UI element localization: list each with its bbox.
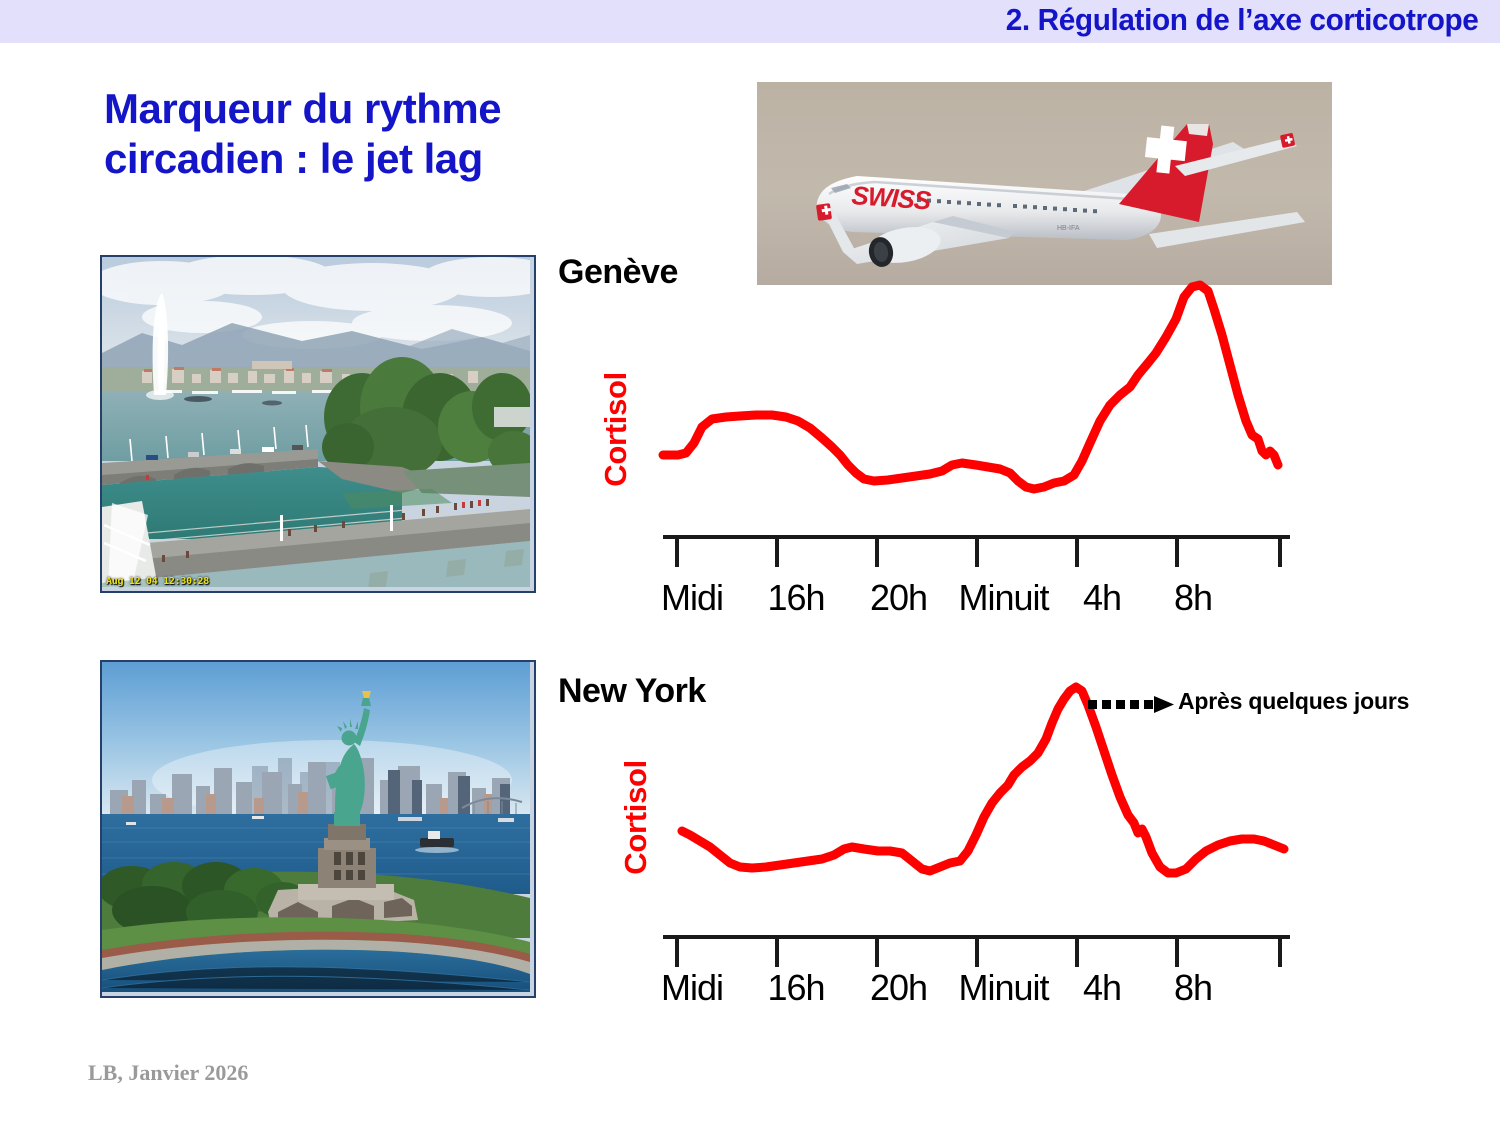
newyork-tick-label-4: 4h [1056,967,1148,1009]
geneva-tick-label-3: Minuit [951,577,1056,619]
header-title: 2. Régulation de l’axe corticotrope [1005,2,1478,38]
geneva-cortisol-chart [590,275,1300,620]
newyork-tick-label-1: 16h [746,967,846,1009]
svg-text:HB-IFA: HB-IFA [1057,225,1080,232]
page-title-line-1: Marqueur du rythme [104,84,624,134]
newyork-cortisol-chart [590,665,1300,1010]
dotted-arrow-right-icon [1088,694,1176,721]
newyork-tick-label-2: 20h [846,967,951,1009]
newyork-tick-label-3: Minuit [951,967,1056,1009]
newyork-x-ticks [677,937,1280,967]
newyork-tick-label-5: 8h [1148,967,1238,1009]
geneva-tick-label-1: 16h [746,577,846,619]
page-title-line-2: circadien : le jet lag [104,134,624,184]
geneva-x-ticks [677,537,1280,567]
geneva-cortisol-curve [663,285,1278,489]
footer-text: LB, Janvier 2026 [88,1060,248,1086]
newyork-x-tick-labels: Midi16h20hMinuit4h8h [638,967,1238,1009]
geneva-x-tick-labels: Midi16h20hMinuit4h8h [638,577,1238,619]
newyork-annotation: Après quelques jours [1178,688,1409,715]
newyork-tick-label-0: Midi [638,967,746,1009]
geneva-tick-label-4: 4h [1056,577,1148,619]
page-title: Marqueur du rythme circadien : le jet la… [104,84,624,184]
plane-photo: SWISS HB-IFA [757,82,1332,285]
geneva-photo-timestamp: Aug 12 04 12:30:28 [106,576,209,587]
svg-text:SWISS: SWISS [851,180,933,216]
newyork-photo [100,660,536,998]
geneva-photo: Aug 12 04 12:30:28 [100,255,536,593]
geneva-tick-label-2: 20h [846,577,951,619]
geneva-tick-label-5: 8h [1148,577,1238,619]
geneva-tick-label-0: Midi [638,577,746,619]
